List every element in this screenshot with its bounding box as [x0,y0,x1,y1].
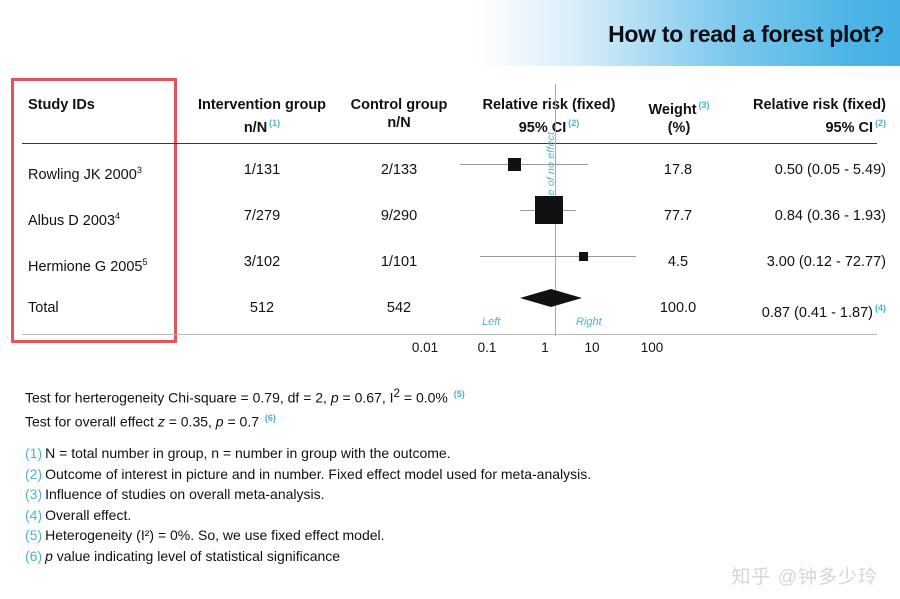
header-divider-rule [22,143,877,144]
column-header-relative-risk-numeric: Relative risk (fixed) 95% CI(2) [724,96,886,137]
confidence-interval-line [460,164,588,165]
header-banner: How to read a forest plot? [438,0,900,66]
axis-tick-label: 0.1 [462,340,512,355]
cell-weight: 17.8 [640,148,716,193]
overall-effect-test-line: Test for overall effect z = 0.35, p = 0.… [25,408,465,432]
cell-study-id: Hermione G 20055 [28,240,147,290]
forest-plot-graphic: Line of no effect Left Right [458,84,636,336]
footnote-ref-5: (5) [454,389,465,399]
table-row: Albus D 20034 7/279 9/290 77.7 0.84 (0.3… [0,194,900,239]
table-row-total: Total 512 542 100.0 0.87 (0.41 - 1.87)(4… [0,286,900,331]
column-header-weight: Weight(3) (%) [636,96,722,137]
cell-study-id: Albus D 20034 [28,194,120,244]
column-header-control-group: Control group n/N [332,96,466,132]
study-effect-marker [508,158,521,171]
table-header-row: Study IDs Intervention group n/N(1) Cont… [0,84,900,143]
x-axis-ticks: 0.01 0.1 1 10 100 [400,340,700,364]
cell-intervention: 1/131 [192,148,332,193]
footnote-item: (3)Influence of studies on overall meta-… [25,484,591,505]
heterogeneity-test-line: Test for herterogeneity Chi-square = 0.7… [25,384,465,408]
column-header-intervention-group: Intervention group n/N(1) [192,96,332,137]
axis-tick-label: 10 [572,340,612,355]
axis-tick-label: 0.01 [400,340,450,355]
column-header-study-ids: Study IDs [28,96,95,114]
footnote-ref-4: (4) [875,303,886,313]
cell-relative-risk: 0.50 (0.05 - 5.49) [726,148,886,193]
study-effect-marker [579,252,588,261]
cell-intervention: 512 [192,286,332,331]
cell-control: 1/101 [340,240,458,285]
cell-weight: 100.0 [640,286,716,331]
footnote-ref-3: (3) [699,100,710,110]
confidence-interval-line [480,256,636,257]
footnote-item: (5)Heterogeneity (I²) = 0%. So, we use f… [25,525,591,546]
axis-direction-label-left: Left [482,316,500,328]
forest-plot-table: Study IDs Intervention group n/N(1) Cont… [0,84,900,143]
cell-weight: 4.5 [640,240,716,285]
page-title: How to read a forest plot? [608,21,884,48]
cell-study-id: Rowling JK 20003 [28,148,142,198]
cell-control: 2/133 [340,148,458,193]
study-effect-marker [535,196,563,224]
table-row: Rowling JK 20003 1/131 2/133 17.8 0.50 (… [0,148,900,193]
cell-intervention: 3/102 [192,240,332,285]
diamond-icon [520,288,582,308]
cell-relative-risk: 0.84 (0.36 - 1.93) [726,194,886,239]
cell-control: 542 [340,286,458,331]
statistics-block: Test for herterogeneity Chi-square = 0.7… [25,384,465,431]
footnote-ref-1: (1) [269,118,280,128]
footnote-ref-6: (6) [265,413,276,423]
cell-study-id: Total [28,286,59,331]
table-row: Hermione G 20055 3/102 1/101 4.5 3.00 (0… [0,240,900,285]
summary-effect-diamond [520,288,582,308]
cell-control: 9/290 [340,194,458,239]
axis-tick-label: 1 [530,340,560,355]
footnote-item: (2)Outcome of interest in picture and in… [25,464,591,485]
footnotes-block: (1)N = total number in group, n = number… [25,443,591,566]
footnote-item: (1)N = total number in group, n = number… [25,443,591,464]
footnote-ref-2b: (2) [875,118,886,128]
cell-relative-risk: 0.87 (0.41 - 1.87)(4) [726,286,886,336]
cell-relative-risk: 3.00 (0.12 - 72.77) [726,240,886,285]
axis-tick-label: 100 [628,340,676,355]
footnote-item: (6)p value indicating level of statistic… [25,546,591,567]
axis-direction-label-right: Right [576,316,602,328]
watermark: 知乎 @钟多少玲 [731,562,878,589]
cell-intervention: 7/279 [192,194,332,239]
footnote-item: (4)Overall effect. [25,505,591,526]
cell-weight: 77.7 [640,194,716,239]
